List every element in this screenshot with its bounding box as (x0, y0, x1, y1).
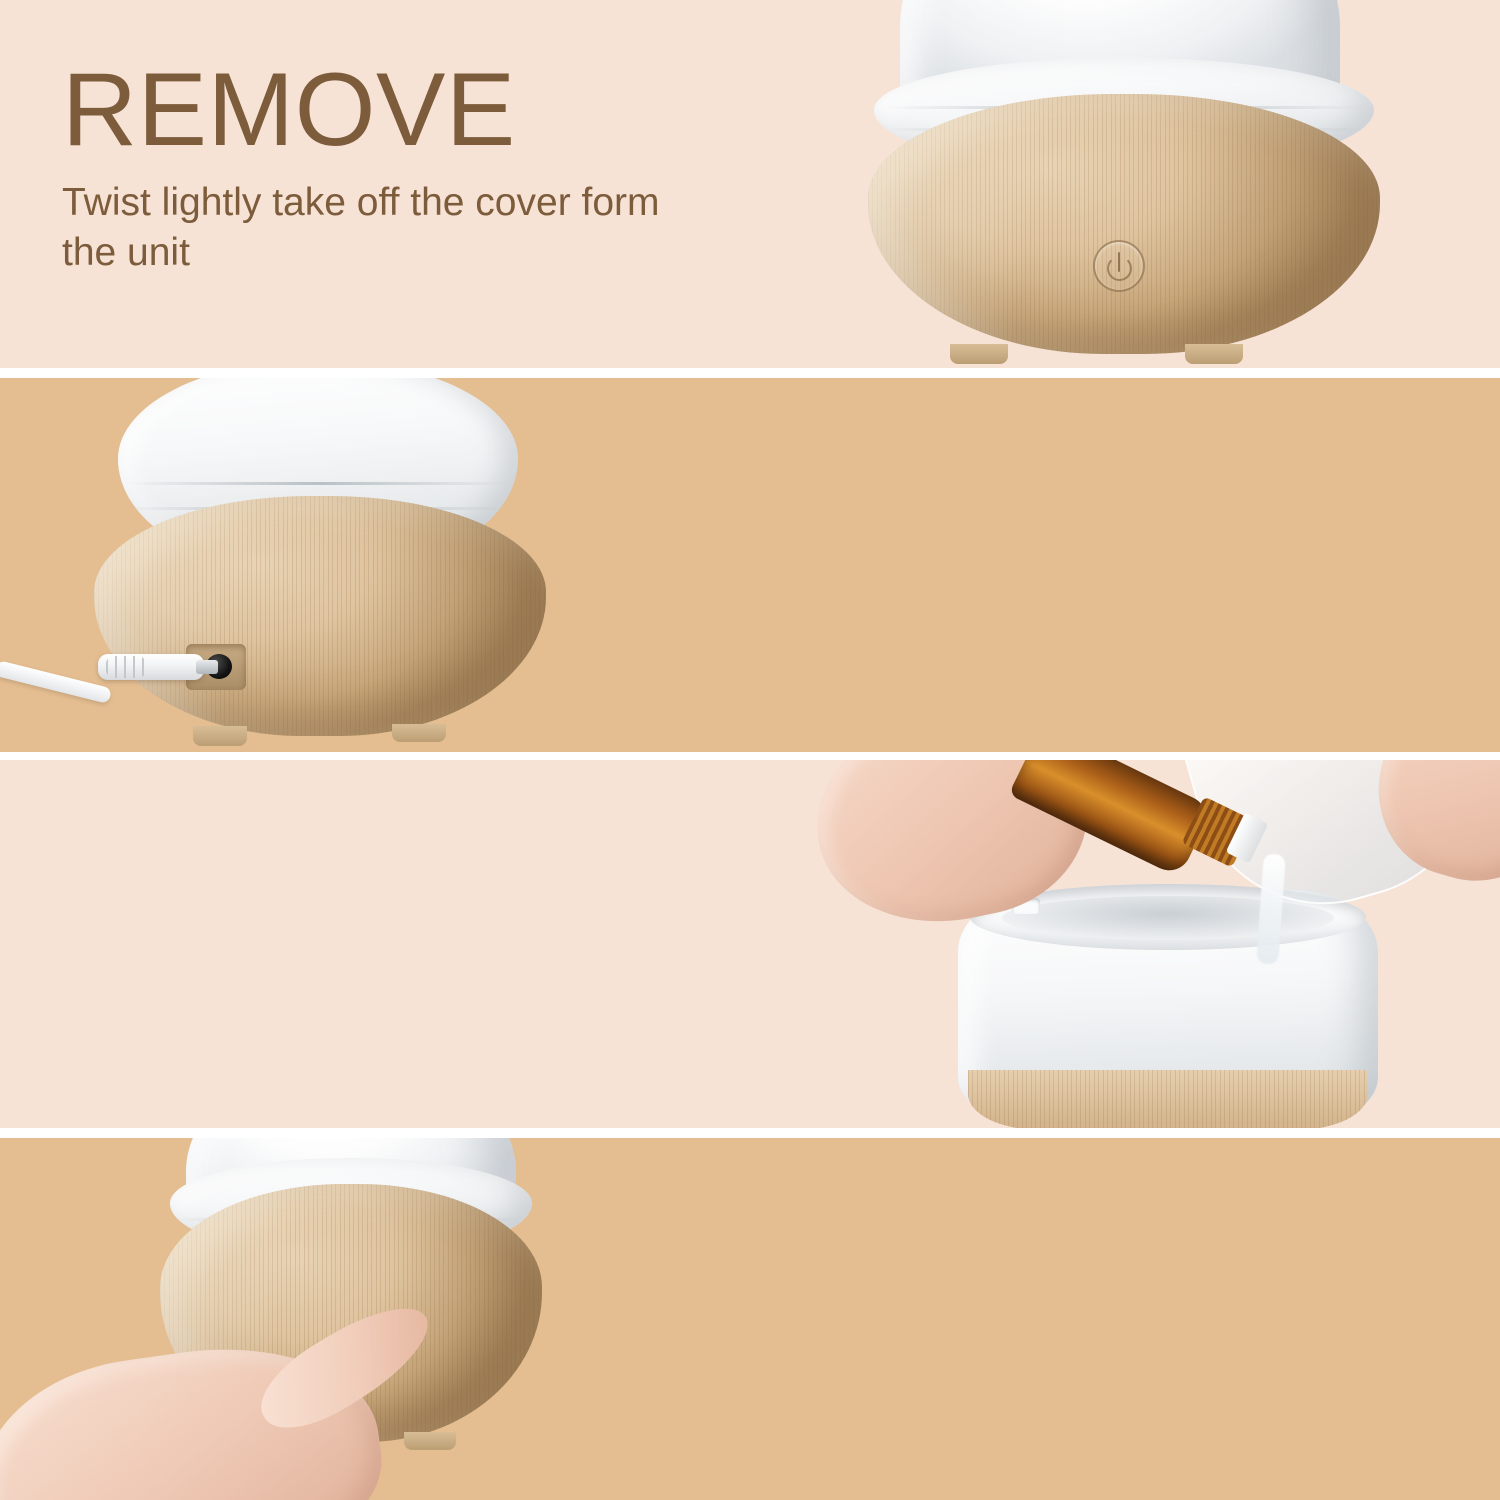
collar-groove (126, 482, 510, 485)
diffuser-wood-base (94, 496, 546, 736)
plug-metal-tip (196, 660, 218, 674)
base-foot (392, 724, 446, 742)
base-shading (94, 496, 546, 736)
plug-grip-rings (106, 656, 146, 678)
step-panel-plug-in: PLUG IN Connect the cable to power jack … (0, 378, 1500, 752)
base-foot (950, 344, 1008, 364)
diffuser-wood-base (968, 1070, 1368, 1128)
base-foot (404, 1432, 456, 1450)
base-foot (193, 726, 247, 746)
power-button-icon (1093, 240, 1145, 292)
step-heading-remove: REMOVE (62, 58, 722, 162)
step-panel-remove: REMOVE Twist lightly take off the cover … (0, 0, 1500, 368)
step-text-remove: REMOVE Twist lightly take off the cover … (62, 58, 722, 277)
base-foot (1185, 344, 1243, 364)
step-panel-add: ADD Fill water tank to under the max lin… (0, 760, 1500, 1128)
diffuser-cable-plugged-illustration (40, 378, 660, 752)
power-cable-wire (0, 660, 112, 704)
filling-tank-illustration (840, 760, 1500, 1128)
instruction-infographic: REMOVE Twist lightly take off the cover … (0, 0, 1500, 1500)
tank-cavity (1002, 896, 1334, 940)
step-body-remove: Twist lightly take off the cover form th… (62, 178, 722, 277)
base-shading (868, 94, 1380, 354)
diffuser-wood-base (868, 94, 1380, 354)
step-panel-operate: OPERATE Recover the shell and press ON/O… (0, 1138, 1500, 1500)
pressing-power-button-illustration (90, 1138, 710, 1500)
diffuser-cover-removed-illustration (860, 0, 1480, 368)
power-stem (1118, 252, 1120, 272)
